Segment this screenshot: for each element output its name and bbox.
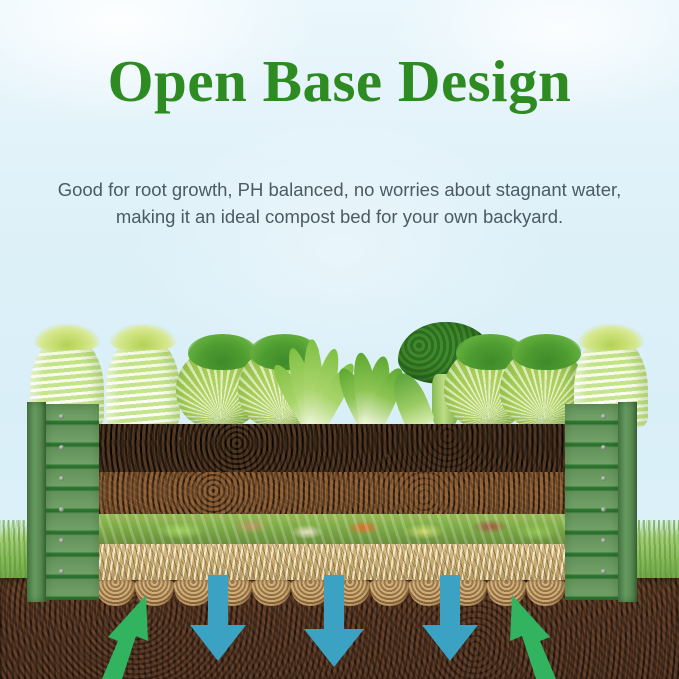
screw-icon [59, 476, 64, 481]
screw-icon [601, 445, 606, 450]
arrow-down-2-icon [300, 575, 368, 669]
screw-icon [601, 538, 606, 543]
subtitle-text: Good for root growth, PH balanced, no wo… [27, 176, 652, 231]
bed-panel-right [565, 404, 637, 600]
bed-slats-left [46, 404, 99, 600]
layer-food-scraps [96, 514, 565, 544]
screw-icon [601, 414, 606, 419]
screw-icon [59, 414, 64, 419]
screw-icon [59, 507, 64, 512]
bed-corner-post-right [618, 402, 637, 602]
arrow-up-right-icon [498, 589, 570, 679]
flow-arrows [0, 575, 679, 679]
screw-icon [59, 538, 64, 543]
arrow-up-left-icon [88, 589, 160, 679]
arrow-down-1-icon [186, 575, 250, 663]
layer-brown-compost-soil [96, 472, 565, 514]
bed-slats-right [565, 404, 618, 600]
screw-icon [59, 569, 64, 574]
promo-image: Open Base Design Good for root growth, P… [0, 0, 679, 679]
arrow-down-3-icon [418, 575, 482, 663]
screw-icon [601, 569, 606, 574]
page-title: Open Base Design [0, 52, 679, 111]
compost-layer-stack [96, 424, 565, 580]
screw-icon [601, 476, 606, 481]
bed-corner-post-left [27, 402, 46, 602]
layer-dark-topsoil [96, 424, 565, 472]
raised-garden-bed [0, 404, 679, 600]
screw-icon [601, 507, 606, 512]
screw-icon [59, 445, 64, 450]
bed-panel-left [27, 404, 99, 600]
